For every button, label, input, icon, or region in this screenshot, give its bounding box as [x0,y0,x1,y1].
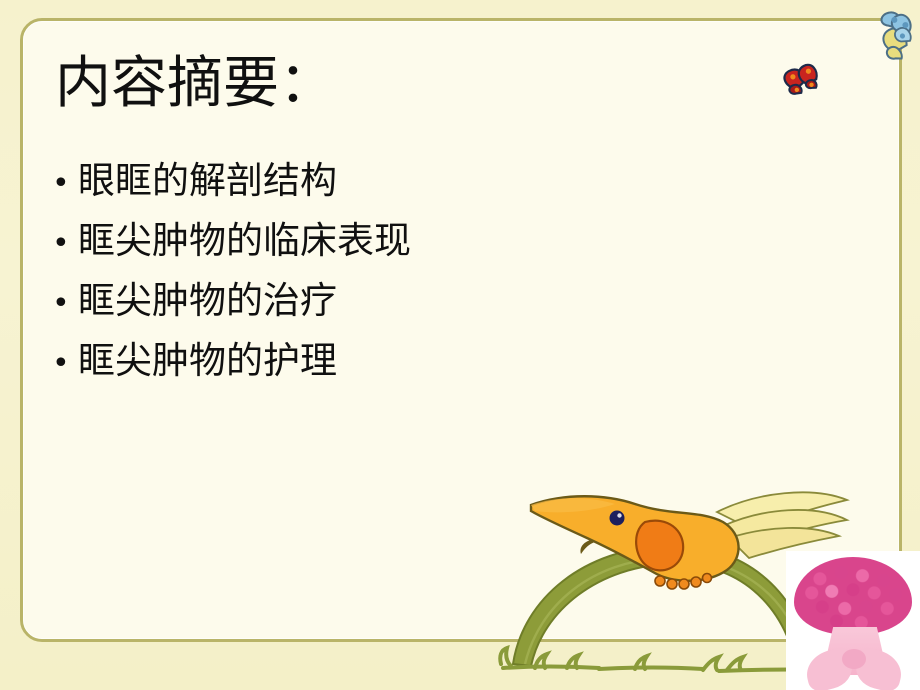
bullet-item-label: 眼眶的解剖结构 [78,162,337,199]
list-item: • 眶尖肿物的治疗 [52,282,752,342]
list-item: • 眶尖肿物的临床表现 [52,222,752,282]
bullet-marker-icon: • [52,229,78,259]
bullet-item-label: 眶尖肿物的临床表现 [78,222,411,259]
list-item: • 眼眶的解剖结构 [52,162,752,222]
slide-title: 内容摘要： [55,52,335,116]
list-item: • 眶尖肿物的护理 [52,342,752,402]
bullet-marker-icon: • [52,289,78,319]
bullet-item-label: 眶尖肿物的治疗 [78,282,337,319]
presentation-slide: 内容摘要： • 眼眶的解剖结构 • 眶尖肿物的临床表现 • 眶尖肿物的治疗 • … [0,0,920,690]
bullet-marker-icon: • [52,169,78,199]
bullet-list: • 眼眶的解剖结构 • 眶尖肿物的临床表现 • 眶尖肿物的治疗 • 眶尖肿物的护… [52,162,752,402]
bullet-marker-icon: • [52,349,78,379]
bullet-item-label: 眶尖肿物的护理 [78,342,337,379]
